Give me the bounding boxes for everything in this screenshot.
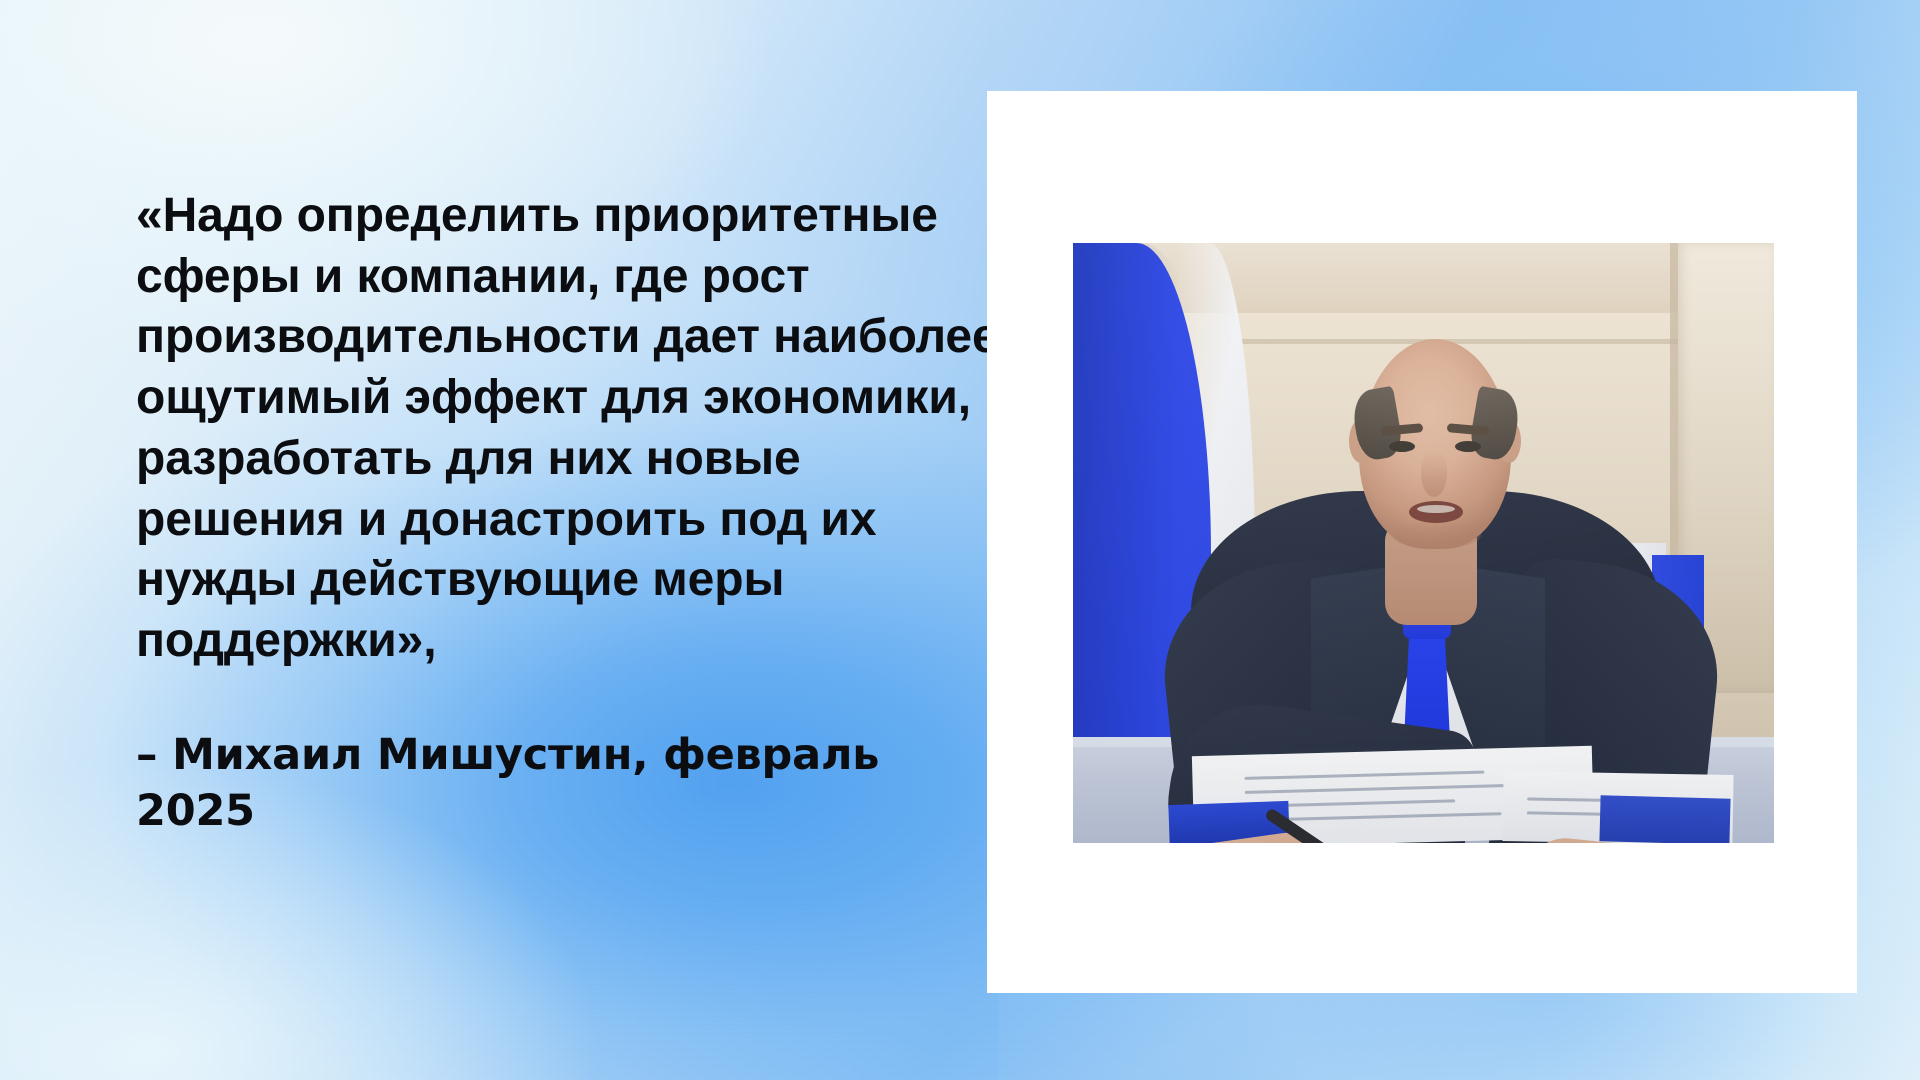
quote-attribution: – Михаил Мишустин, февраль 2025	[136, 672, 1004, 840]
photo-eye-right	[1455, 441, 1481, 452]
photo-card	[987, 91, 1857, 993]
photo-nose	[1421, 451, 1447, 497]
photo-eye-left	[1389, 441, 1415, 452]
portrait-photo	[1073, 243, 1774, 843]
photo-teeth	[1417, 505, 1455, 513]
photo-folder-right	[1599, 795, 1730, 843]
slide-root: «Надо определить приоритетные сферы и ко…	[0, 0, 1920, 1080]
photo-chin-shadow	[1391, 521, 1481, 549]
quote-block: «Надо определить приоритетные сферы и ко…	[136, 186, 1004, 840]
quote-text: «Надо определить приоритетные сферы и ко…	[136, 186, 1004, 672]
